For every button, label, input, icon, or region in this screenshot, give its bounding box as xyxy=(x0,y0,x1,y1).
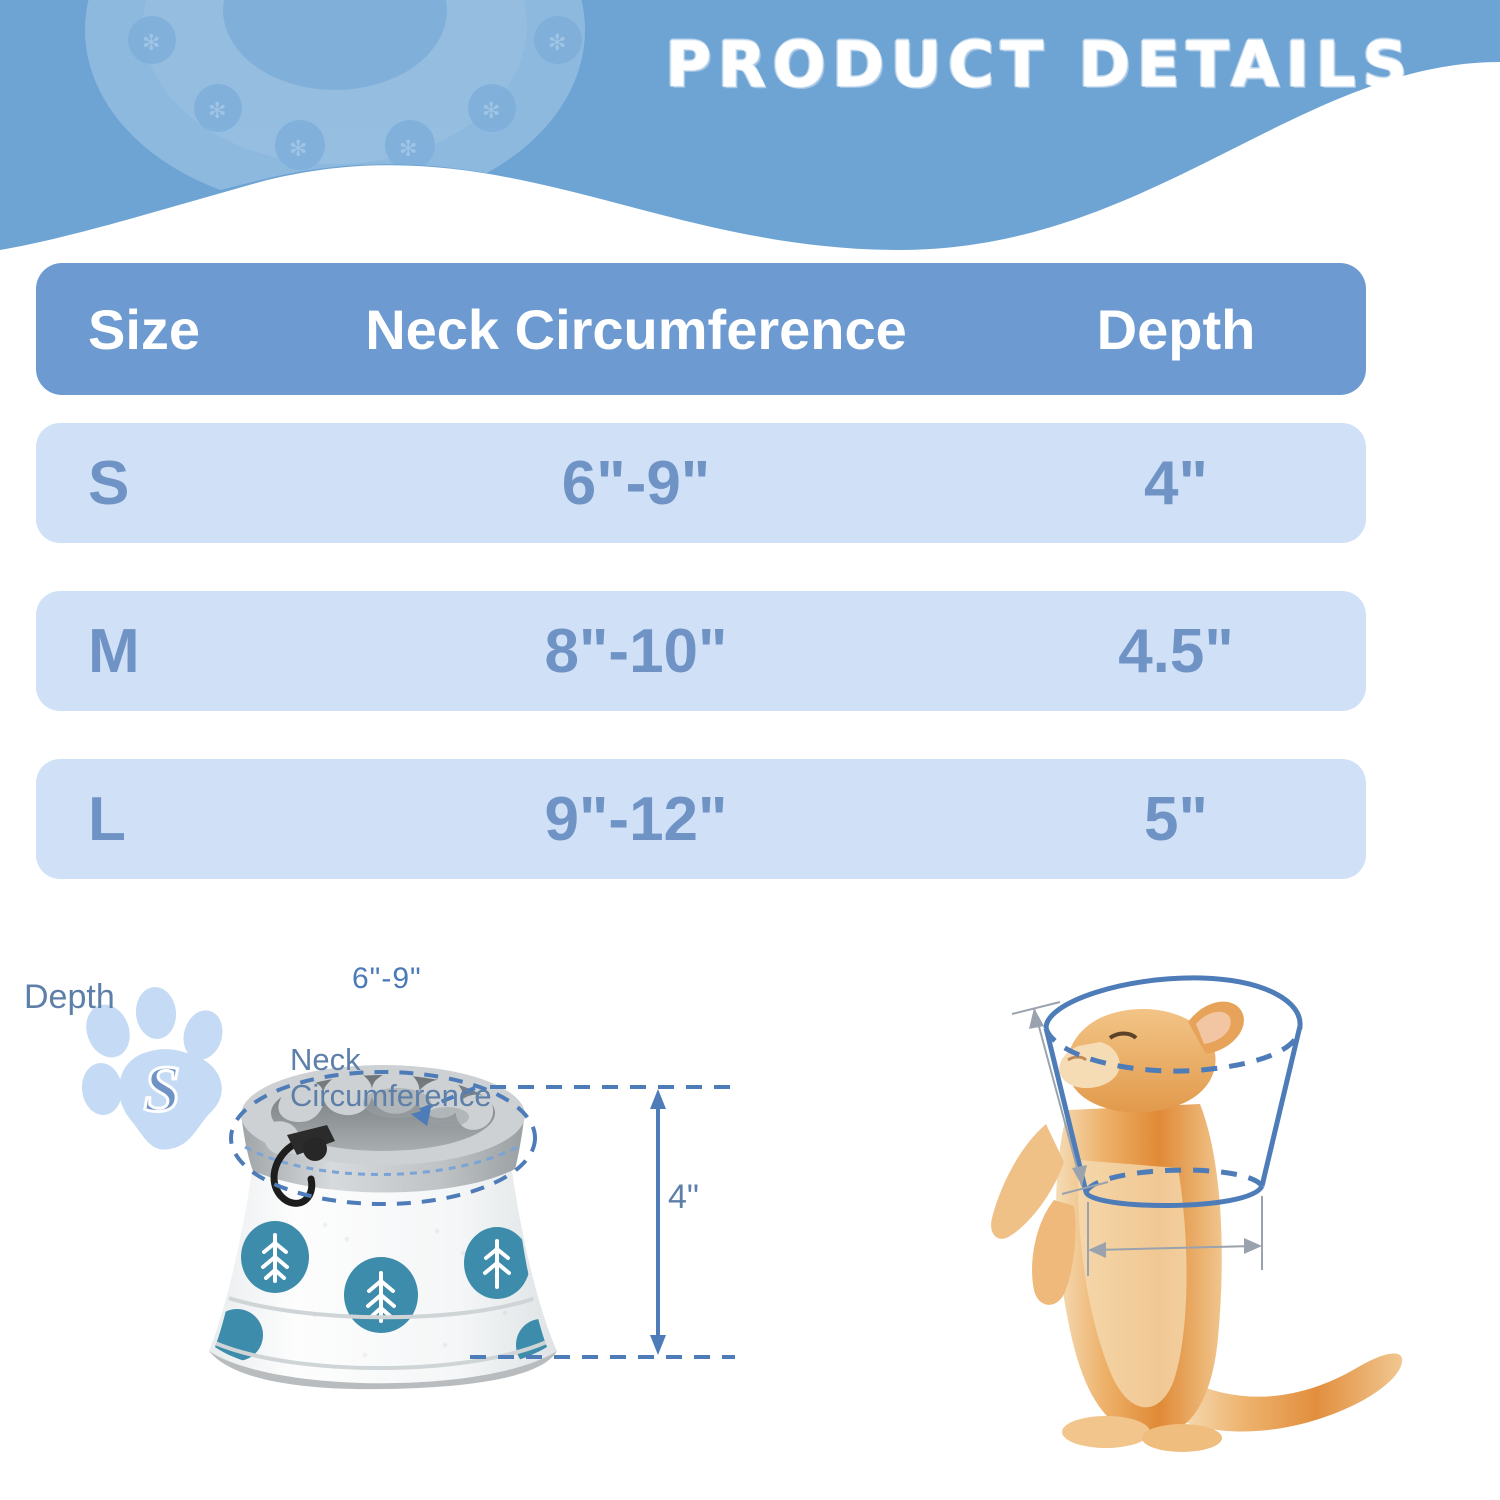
svg-text:✻: ✻ xyxy=(208,99,226,124)
table-header-row: Size Neck Circumference Depth xyxy=(36,263,1366,395)
cell-size: S xyxy=(36,448,286,519)
cat-neck-label-line2: Circumference xyxy=(290,1078,492,1114)
table-row: S 6"-9" 4" xyxy=(36,423,1366,543)
cell-neck-circumference: 9"-12" xyxy=(286,784,986,855)
cell-neck-circumference: 6"-9" xyxy=(286,448,986,519)
cone-depth-dimension xyxy=(470,1065,760,1385)
table-row: L 9"-12" 5" xyxy=(36,759,1366,879)
svg-text:✻: ✻ xyxy=(482,99,500,124)
header-banner: ✻✻ ✻✻ ✻✻ PRODUCT DETAILS xyxy=(0,0,1500,260)
svg-text:✻: ✻ xyxy=(548,31,566,56)
page-title: PRODUCT DETAILS xyxy=(600,18,1480,110)
cat-neck-circumference-label: Neck Circumference xyxy=(290,1042,492,1114)
cell-size: M xyxy=(36,616,286,687)
cell-size: L xyxy=(36,784,286,855)
cat-illustration xyxy=(950,910,1490,1490)
cell-depth: 4.5" xyxy=(986,616,1366,687)
column-header-neck-circumference: Neck Circumference xyxy=(286,297,986,362)
table-row: M 8"-10" 4.5" xyxy=(36,591,1366,711)
cell-neck-circumference: 8"-10" xyxy=(286,616,986,687)
diagram-section: S xyxy=(0,900,1500,1500)
cone-neck-dimension-label: 6"-9" xyxy=(352,962,422,996)
column-header-size: Size xyxy=(36,297,286,362)
svg-text:✻: ✻ xyxy=(142,31,160,56)
cell-depth: 4" xyxy=(986,448,1366,519)
size-chart-table: Size Neck Circumference Depth S 6"-9" 4"… xyxy=(36,263,1366,927)
cat-depth-label: Depth xyxy=(24,978,115,1017)
svg-text:✻: ✻ xyxy=(289,137,307,162)
column-header-depth: Depth xyxy=(986,297,1366,362)
cone-depth-dimension-label: 4" xyxy=(668,1178,699,1217)
svg-text:✻: ✻ xyxy=(399,137,417,162)
cell-depth: 5" xyxy=(986,784,1366,855)
cat-neck-label-line1: Neck xyxy=(290,1042,492,1078)
